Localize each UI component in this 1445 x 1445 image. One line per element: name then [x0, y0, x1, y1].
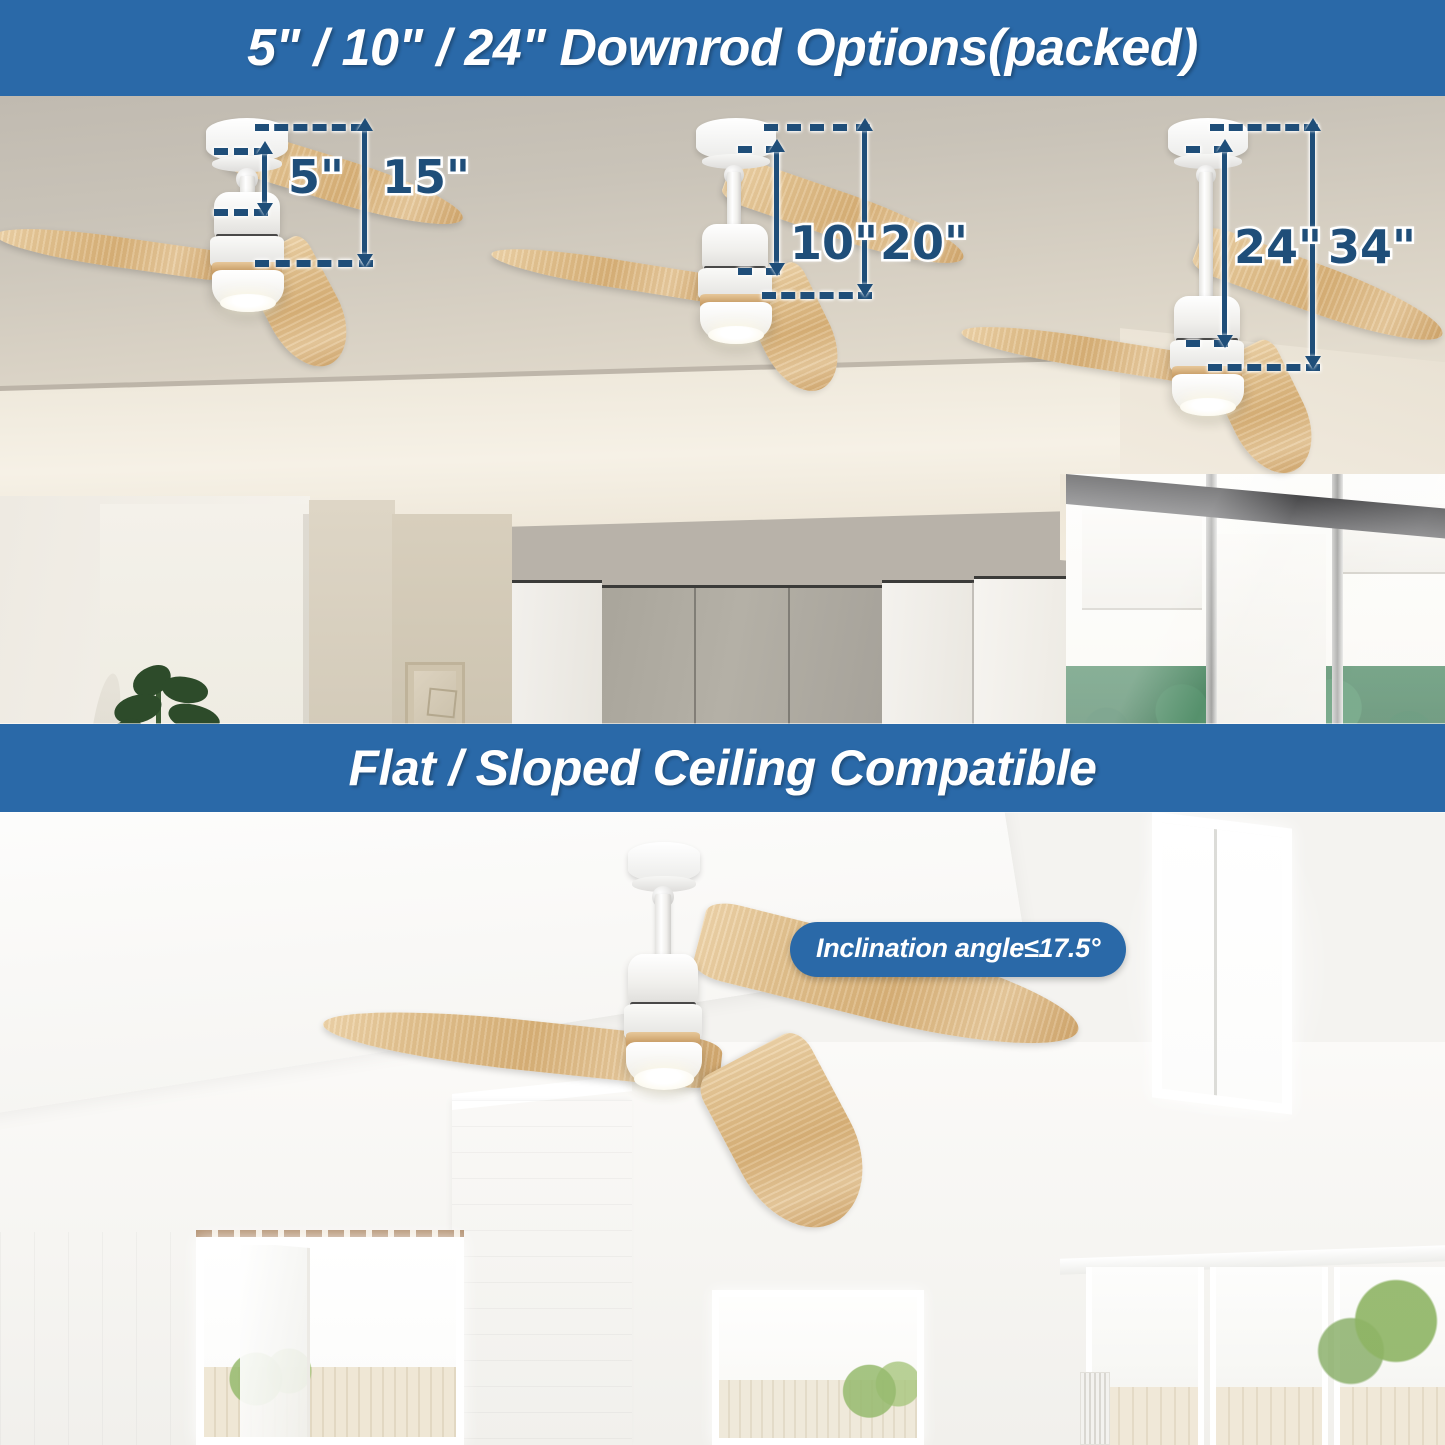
inclination-angle-badge: Inclination angle≤17.5° [790, 922, 1126, 977]
cabinet-tall-right [882, 580, 974, 724]
cabinet-tall-far-right [974, 576, 1072, 724]
measure-line [262, 150, 267, 208]
measure-arrow-icon [1217, 335, 1233, 348]
total-drop-label: 20" [880, 220, 968, 266]
measure-arrow-icon [1217, 139, 1233, 152]
window-icon[interactable] [196, 1237, 464, 1445]
outdoor-fence [1216, 1387, 1322, 1445]
downrod-length-label: 24" [1234, 224, 1322, 270]
measure-arrow-icon [769, 139, 785, 152]
artwork-canvas [414, 671, 456, 724]
mid-wall [309, 500, 395, 724]
dashed-guide-line-icon [255, 260, 373, 267]
glass-reflection [1066, 474, 1445, 724]
measure-arrow-icon [1305, 356, 1321, 369]
dashed-guide-line-icon [1210, 124, 1318, 131]
middle-banner: Flat / Sloped Ceiling Compatible [0, 724, 1445, 812]
product-feature-image: 5" / 10" / 24" Downrod Options(packed) [0, 0, 1445, 1445]
measure-arrow-icon [257, 141, 273, 154]
dashed-guide-line-icon [1208, 364, 1320, 371]
total-drop-label: 34" [1328, 224, 1416, 270]
window-icon [1152, 812, 1292, 1115]
outdoor-foliage [1306, 1267, 1445, 1387]
measure-arrow-icon [857, 118, 873, 131]
cabinet-upper-gray [602, 585, 882, 724]
sloped-ceiling-scene: Inclination angle≤17.5° [0, 812, 1445, 1445]
framed-artwork-icon [405, 662, 465, 724]
window-sash[interactable] [240, 1242, 310, 1445]
potted-plant-icon [70, 661, 270, 724]
dashed-guide-line-icon [762, 292, 872, 299]
dashed-guide-line-icon [764, 124, 870, 131]
cabinet-tall-left [512, 580, 602, 724]
inclination-angle-text: Inclination angle≤17.5° [816, 933, 1100, 963]
measure-arrow-icon [257, 203, 273, 216]
measure-arrow-icon [1305, 118, 1321, 131]
cabinet-seam [972, 582, 974, 724]
downrod-length-label: 10" [790, 220, 878, 266]
window-icon[interactable] [712, 1290, 924, 1445]
total-drop-label: 15" [382, 154, 470, 200]
measure-arrow-icon [857, 284, 873, 297]
outdoor-foliage [831, 1348, 924, 1420]
measure-line [774, 148, 779, 268]
radiator-icon [1080, 1372, 1110, 1445]
top-banner-text: 5" / 10" / 24" Downrod Options(packed) [247, 18, 1198, 78]
window-mullion [1214, 829, 1217, 1095]
flat-ceiling-scene: 5" 15" [0, 96, 1445, 724]
sliding-glass-doors[interactable] [1066, 474, 1445, 724]
artwork-sketch [427, 688, 458, 719]
outdoor-fence [1340, 1387, 1445, 1445]
measure-arrow-icon [357, 118, 373, 131]
glass-doors[interactable] [1086, 1267, 1445, 1445]
measure-arrow-icon [769, 263, 785, 276]
middle-banner-text: Flat / Sloped Ceiling Compatible [349, 739, 1097, 797]
ceiling-fan-icon [960, 118, 1420, 508]
downrod-length-label: 5" [288, 154, 344, 200]
top-banner: 5" / 10" / 24" Downrod Options(packed) [0, 0, 1445, 96]
measure-line [1222, 148, 1227, 340]
dashed-guide-line-icon [255, 124, 365, 131]
measure-arrow-icon [357, 254, 373, 267]
measure-line [362, 126, 367, 262]
ceiling-fan-icon [300, 842, 1060, 1202]
door-panel[interactable] [1334, 1267, 1445, 1445]
